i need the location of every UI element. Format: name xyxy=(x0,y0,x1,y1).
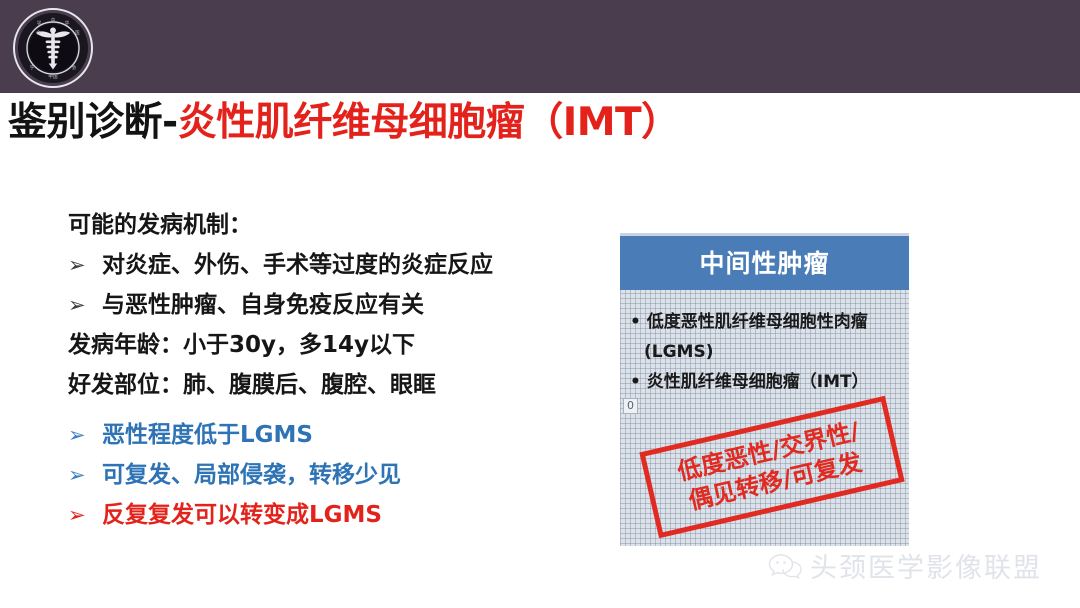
bullet-black-1: ➢ 对炎症、外伤、手术等过度的炎症反应 xyxy=(68,245,588,285)
bullet-colored-3: ➢ 反复复发可以转变成LGMS xyxy=(68,495,588,535)
watermark: 头颈医学影像联盟 xyxy=(768,546,1042,585)
wechat-bubble-icon xyxy=(768,552,802,580)
svg-text:会: 会 xyxy=(72,64,77,71)
panel-item-2-main: • 炎性肌纤维母细胞瘤（IMT） xyxy=(630,372,869,392)
bullet-colored-2-text: 可复发、局部侵袭，转移少见 xyxy=(102,455,401,495)
svg-text:学: 学 xyxy=(37,20,42,27)
svg-text:华: 华 xyxy=(65,20,70,27)
panel-item-1-main: • 低度恶性肌纤维母细胞性肉瘤 xyxy=(630,312,868,332)
slide-title: 鉴别诊断-炎性肌纤维母细胞瘤（IMT） xyxy=(8,98,680,148)
bullet-colored-3-text: 反复复发可以转变成LGMS xyxy=(102,495,382,535)
axis-zero-label: 0 xyxy=(623,398,638,414)
arrow-marker-icon: ➢ xyxy=(68,245,102,285)
bullet-black-2-text: 与恶性肿瘤、自身免疫反应有关 xyxy=(102,285,424,325)
arrow-marker-icon: ➢ xyxy=(68,455,102,495)
watermark-text: 头颈医学影像联盟 xyxy=(810,546,1042,585)
panel-list-item: • 炎性肌纤维母细胞瘤（IMT） xyxy=(630,367,899,397)
panel-header-topline xyxy=(620,233,909,236)
mechanism-heading: 可能的发病机制： xyxy=(68,205,588,245)
bullet-colored-2: ➢ 可复发、局部侵袭，转移少见 xyxy=(68,455,588,495)
header-bar: 中 华 医 会 学 中国 学 会 xyxy=(0,0,1080,93)
arrow-marker-icon: ➢ xyxy=(68,285,102,325)
left-content-column: 可能的发病机制： ➢ 对炎症、外伤、手术等过度的炎症反应 ➢ 与恶性肿瘤、自身免… xyxy=(68,205,588,535)
bullet-black-1-text: 对炎症、外伤、手术等过度的炎症反应 xyxy=(102,245,493,285)
intermediate-tumor-panel: 中间性肿瘤 • 低度恶性肌纤维母细胞性肉瘤 (LGMS) • 炎性肌纤维母细胞瘤… xyxy=(620,233,909,546)
svg-text:学: 学 xyxy=(30,64,35,71)
malignancy-stamp: 低度恶性/交界性/ 偶见转移/可复发 xyxy=(639,396,904,538)
slide-title-red: 炎性肌纤维母细胞瘤（IMT） xyxy=(178,100,680,145)
svg-text:医: 医 xyxy=(75,30,80,36)
panel-header-title: 中间性肿瘤 xyxy=(699,244,829,280)
slide-title-black: 鉴别诊断- xyxy=(8,100,178,145)
onset-age-line: 发病年龄：小于30y，多14y以下 xyxy=(68,325,588,365)
panel-item-1-cont: (LGMS) xyxy=(630,337,899,367)
panel-list-item: • 低度恶性肌纤维母细胞性肉瘤 (LGMS) xyxy=(630,307,899,367)
arrow-marker-icon: ➢ xyxy=(68,415,102,455)
panel-body: • 低度恶性肌纤维母细胞性肉瘤 (LGMS) • 炎性肌纤维母细胞瘤（IMT） xyxy=(620,290,909,397)
svg-text:中国: 中国 xyxy=(48,73,58,80)
bullet-black-2: ➢ 与恶性肿瘤、自身免疫反应有关 xyxy=(68,285,588,325)
bullet-colored-1-text: 恶性程度低于LGMS xyxy=(102,415,313,455)
arrow-marker-icon: ➢ xyxy=(68,495,102,535)
svg-text:中: 中 xyxy=(51,17,56,24)
panel-header: 中间性肿瘤 xyxy=(620,233,909,290)
svg-text:会: 会 xyxy=(36,29,41,36)
medical-association-emblem-icon: 中 华 医 会 学 中国 学 会 xyxy=(12,7,94,89)
common-sites-line: 好发部位：肺、腹膜后、腹腔、眼眶 xyxy=(68,365,588,405)
bullet-colored-1: ➢ 恶性程度低于LGMS xyxy=(68,415,588,455)
